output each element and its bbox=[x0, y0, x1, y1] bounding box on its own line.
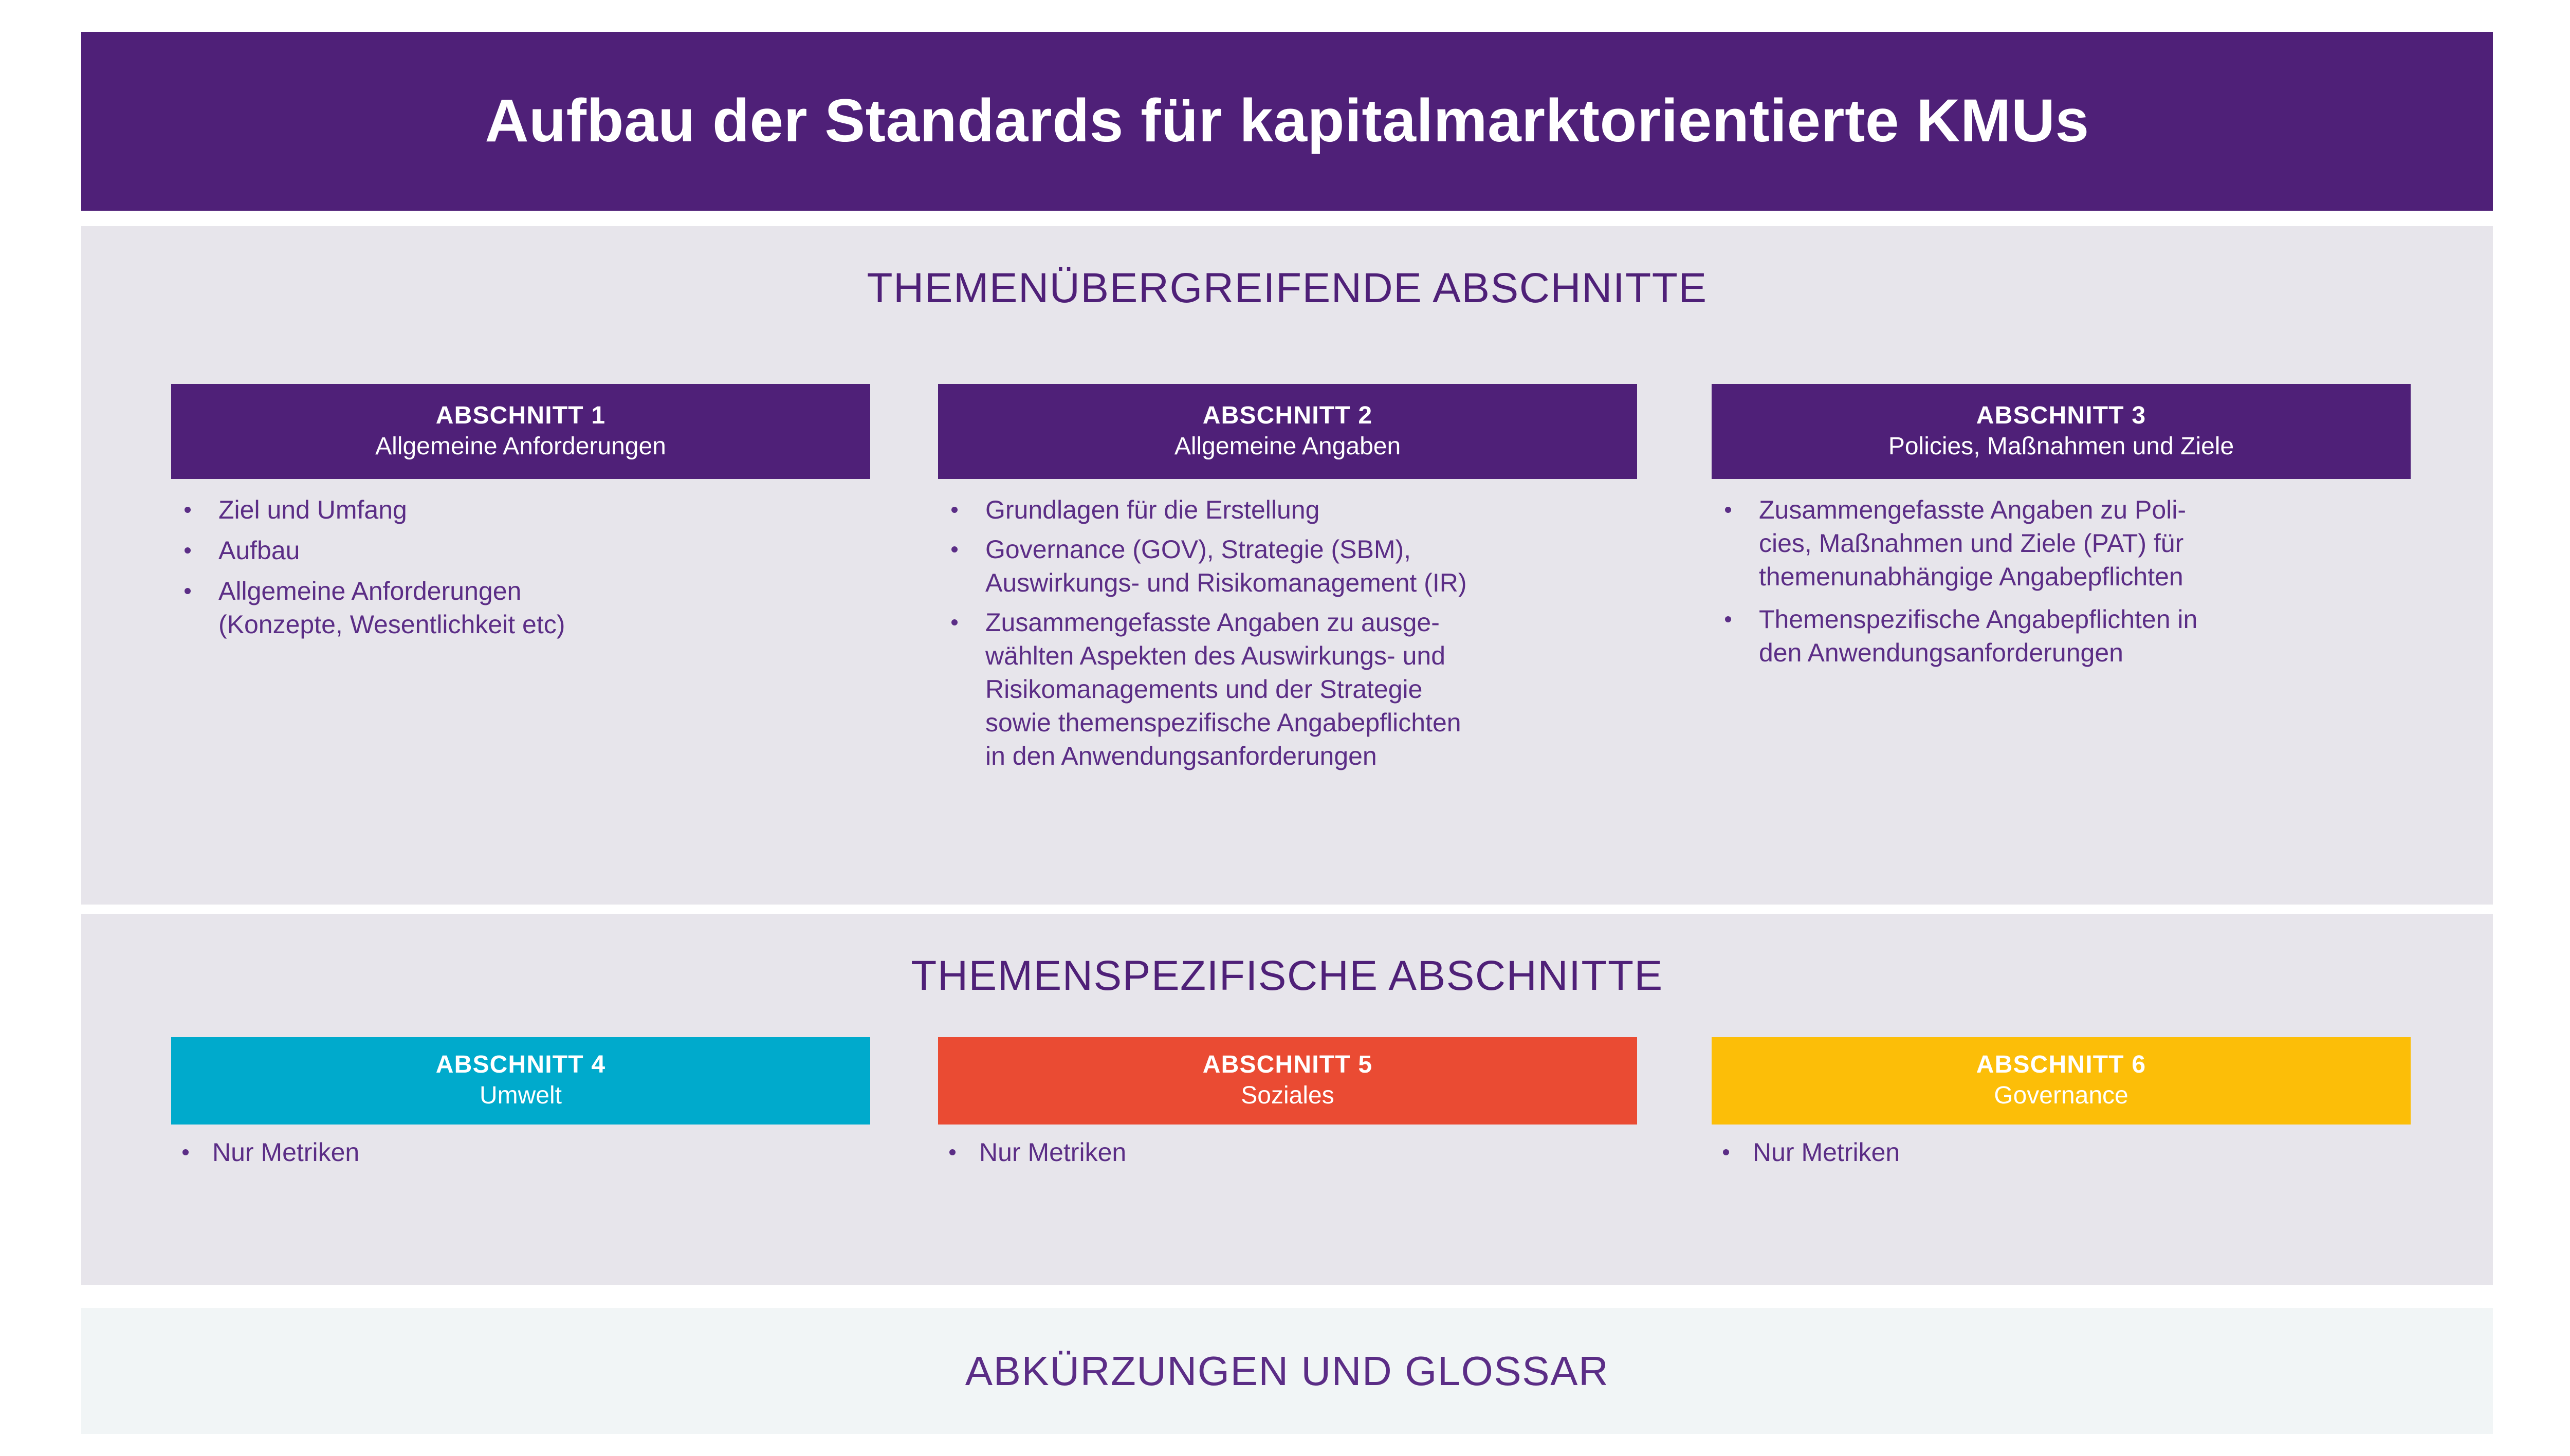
list-item-text: Nur Metriken bbox=[979, 1136, 1637, 1169]
card-subtitle-abschnitt-6: Governance bbox=[1994, 1080, 2128, 1111]
list-item: Nur Metriken bbox=[938, 1136, 1637, 1169]
list-item: Aufbau bbox=[171, 534, 870, 567]
list-item-text: Themenspezifische Angabepflichten in den… bbox=[1759, 603, 2411, 670]
list-item: Ziel und Umfang bbox=[171, 493, 870, 527]
slide-canvas: Aufbau der Standards für kapitalmarktori… bbox=[0, 0, 2570, 1456]
bullet-dot-icon bbox=[1725, 616, 1731, 622]
list-item-text: Nur Metriken bbox=[212, 1136, 870, 1169]
card-subtitle-abschnitt-5: Soziales bbox=[1241, 1080, 1334, 1111]
slide-title-bar: Aufbau der Standards für kapitalmarktori… bbox=[81, 32, 2493, 211]
list-item: Allgemeine Anforderungen (Konzepte, Wese… bbox=[171, 575, 870, 641]
bullet-list-abschnitt-5: Nur Metriken bbox=[938, 1136, 1637, 1169]
list-item-text: Governance (GOV), Strategie (SBM), Auswi… bbox=[985, 533, 1637, 600]
card-subtitle-abschnitt-3: Policies, Maßnahmen und Ziele bbox=[1888, 431, 2234, 462]
list-item: Nur Metriken bbox=[171, 1136, 870, 1169]
bullet-dot-icon bbox=[951, 619, 958, 625]
card-label-abschnitt-2: ABSCHNITT 2 bbox=[1203, 401, 1373, 431]
list-item-text: Zusammengefasste Angaben zu ausge- wählt… bbox=[985, 606, 1637, 773]
list-item: Governance (GOV), Strategie (SBM), Auswi… bbox=[938, 533, 1637, 600]
bullet-dot-icon bbox=[949, 1149, 956, 1155]
bullet-dot-icon bbox=[951, 546, 958, 552]
list-item: Zusammengefasste Angaben zu ausge- wählt… bbox=[938, 606, 1637, 773]
card-header-abschnitt-5[interactable]: ABSCHNITT 5 Soziales bbox=[938, 1037, 1637, 1125]
section-1-columns: ABSCHNITT 1 Allgemeine Anforderungen Zie… bbox=[81, 226, 2493, 905]
list-item: Grundlagen für die Erstellung bbox=[938, 493, 1637, 527]
card-header-abschnitt-2[interactable]: ABSCHNITT 2 Allgemeine Angaben bbox=[938, 384, 1637, 479]
card-subtitle-abschnitt-4: Umwelt bbox=[480, 1080, 562, 1111]
list-item-text: Ziel und Umfang bbox=[218, 493, 870, 527]
card-subtitle-abschnitt-2: Allgemeine Angaben bbox=[1174, 431, 1401, 462]
bullet-dot-icon bbox=[185, 507, 191, 513]
bullet-dot-icon bbox=[1723, 1149, 1729, 1155]
footer-panel-glossary: ABKÜRZUNGEN UND GLOSSAR bbox=[81, 1308, 2493, 1434]
list-item-text: Grundlagen für die Erstellung bbox=[985, 493, 1637, 527]
bullet-dot-icon bbox=[182, 1149, 189, 1155]
list-item: Nur Metriken bbox=[1712, 1136, 2411, 1169]
card-label-abschnitt-5: ABSCHNITT 5 bbox=[1203, 1050, 1373, 1080]
card-label-abschnitt-3: ABSCHNITT 3 bbox=[1976, 401, 2146, 431]
list-item-text: Allgemeine Anforderungen (Konzepte, Wese… bbox=[218, 575, 870, 641]
card-header-abschnitt-3[interactable]: ABSCHNITT 3 Policies, Maßnahmen und Ziel… bbox=[1712, 384, 2411, 479]
bullet-dot-icon bbox=[185, 547, 191, 554]
section-panel-topic-specific: THEMENSPEZIFISCHE ABSCHNITTE ABSCHNITT 4… bbox=[81, 914, 2493, 1285]
section-panel-cross-cutting: THEMENÜBERGREIFENDE ABSCHNITTE ABSCHNITT… bbox=[81, 226, 2493, 905]
list-item: Themenspezifische Angabepflichten in den… bbox=[1712, 603, 2411, 670]
bullet-list-abschnitt-3: Zusammengefasste Angaben zu Poli- cies, … bbox=[1712, 493, 2411, 679]
bullet-list-abschnitt-1: Ziel und Umfang Aufbau Allgemeine Anford… bbox=[171, 493, 870, 649]
bullet-dot-icon bbox=[1725, 507, 1731, 513]
card-subtitle-abschnitt-1: Allgemeine Anforderungen bbox=[375, 431, 666, 462]
footer-label: ABKÜRZUNGEN UND GLOSSAR bbox=[965, 1348, 1609, 1395]
list-item-text: Zusammengefasste Angaben zu Poli- cies, … bbox=[1759, 493, 2411, 594]
page-title: Aufbau der Standards für kapitalmarktori… bbox=[485, 88, 2089, 155]
card-label-abschnitt-4: ABSCHNITT 4 bbox=[436, 1050, 606, 1080]
list-item-text: Aufbau bbox=[218, 534, 870, 567]
card-header-abschnitt-6[interactable]: ABSCHNITT 6 Governance bbox=[1712, 1037, 2411, 1125]
bullet-list-abschnitt-4: Nur Metriken bbox=[171, 1136, 870, 1169]
bullet-list-abschnitt-2: Grundlagen für die Erstellung Governance… bbox=[938, 493, 1637, 779]
bullet-dot-icon bbox=[185, 588, 191, 594]
list-item-text: Nur Metriken bbox=[1753, 1136, 2411, 1169]
section-2-columns: ABSCHNITT 4 Umwelt Nur Metriken ABSCHNIT… bbox=[81, 914, 2493, 1285]
bullet-list-abschnitt-6: Nur Metriken bbox=[1712, 1136, 2411, 1169]
bullet-dot-icon bbox=[951, 507, 958, 513]
card-label-abschnitt-6: ABSCHNITT 6 bbox=[1976, 1050, 2146, 1080]
list-item: Zusammengefasste Angaben zu Poli- cies, … bbox=[1712, 493, 2411, 594]
card-label-abschnitt-1: ABSCHNITT 1 bbox=[436, 401, 606, 431]
card-header-abschnitt-1[interactable]: ABSCHNITT 1 Allgemeine Anforderungen bbox=[171, 384, 870, 479]
card-header-abschnitt-4[interactable]: ABSCHNITT 4 Umwelt bbox=[171, 1037, 870, 1125]
